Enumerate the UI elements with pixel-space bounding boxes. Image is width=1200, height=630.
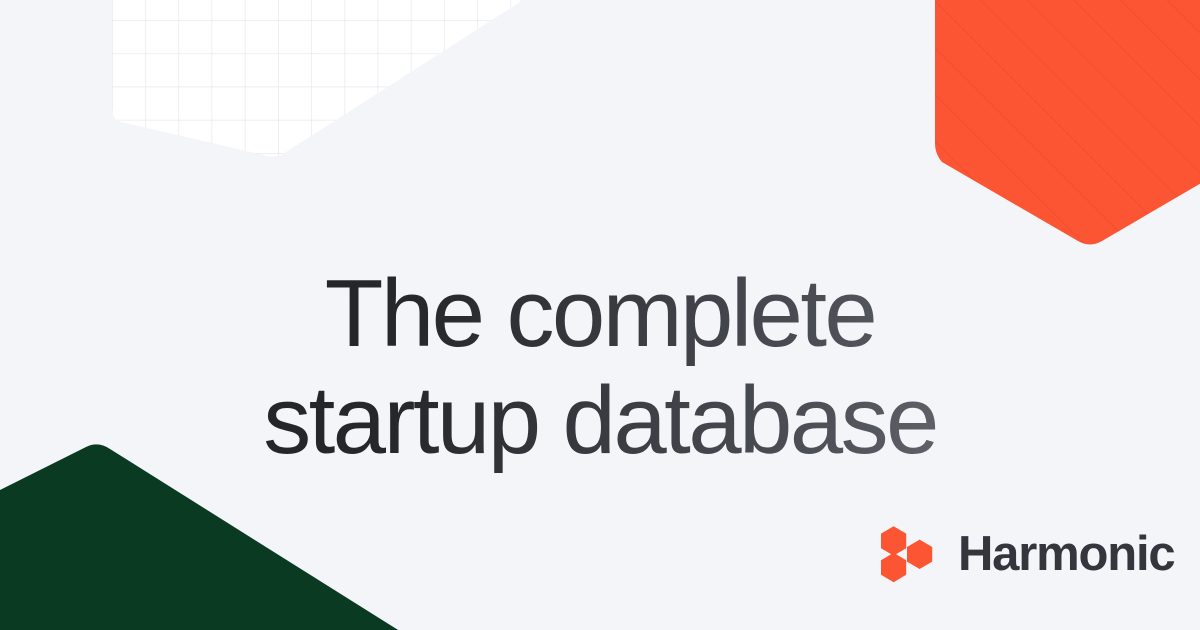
harmonic-hexagon-logo-icon (878, 524, 938, 584)
headline-line-1: The complete (0, 260, 1200, 367)
striped-pentagon-shape (935, 0, 1200, 245)
social-card-canvas: The complete startup database Harmonic (0, 0, 1200, 630)
brand-lockup: Harmonic (878, 518, 1174, 590)
headline-line-2: startup database (0, 367, 1200, 474)
grid-chevron-shape (90, 0, 550, 180)
page-title: The complete startup database (0, 260, 1200, 474)
brand-wordmark: Harmonic (958, 530, 1174, 579)
